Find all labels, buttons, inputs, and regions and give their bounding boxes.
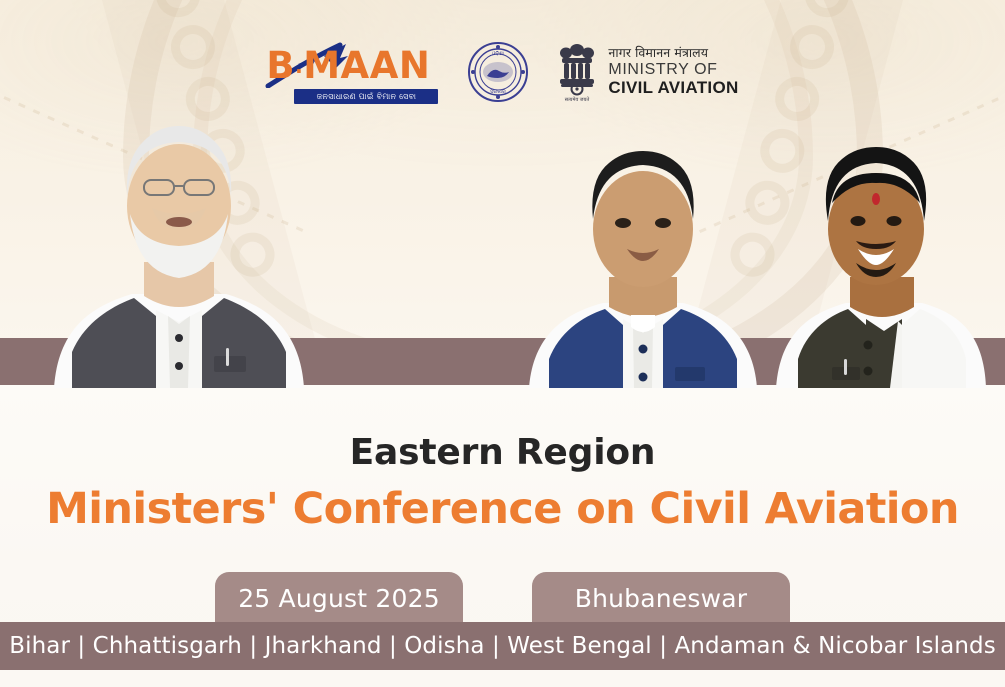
participating-states-bar: Bihar | Chhattisgarh | Jharkhand | Odish… [0, 622, 1005, 670]
date-badge: 25 August 2025 [215, 572, 463, 624]
svg-text:सत्यमेव जयते: सत्यमेव जयते [565, 96, 590, 103]
page-title: Ministers' Conference on Civil Aviation [0, 484, 1005, 534]
national-emblem-ashoka-icon: सत्यमेव जयते [555, 41, 599, 103]
bmaan-wordmark: B·MAAN [266, 46, 441, 86]
svg-text:ସରକାର: ସରକାର [491, 89, 507, 95]
conference-poster: B·MAAN ଜନସାଧାରଣ ପାଇଁ ବିମାନ ସେବା ଓଡ଼ିଶା ସ… [0, 0, 1005, 687]
city-badge: Bhubaneswar [532, 572, 790, 624]
badge-row: 25 August 2025 Bhubaneswar [0, 572, 1005, 624]
svg-text:ଓଡ଼ିଶା: ଓଡ଼ିଶା [492, 50, 504, 57]
ministry-line-1: MINISTRY OF [608, 61, 738, 78]
ministry-of-civil-aviation-logo: सत्यमेव जयते नागर विमानन मंत्रालय MINIST… [555, 41, 738, 103]
portrait-1 [48, 110, 310, 388]
logo-row: B·MAAN ଜନସାଧାରଣ ପାଇଁ ବିମାନ ସେବା ଓଡ଼ିଶା ସ… [0, 36, 1005, 108]
portrait-row [0, 110, 1005, 388]
portrait-2 [519, 145, 767, 388]
bmaan-tagline: ଜନସାଧାରଣ ପାଇଁ ବିମାନ ସେବା [294, 89, 438, 104]
government-of-odisha-seal-icon: ଓଡ଼ିଶା ସରକାର [467, 41, 529, 103]
region-heading: Eastern Region [0, 432, 1005, 473]
portrait-3 [772, 145, 990, 388]
bmaan-logo: B·MAAN ଜନସାଧାରଣ ପାଇଁ ବିମାନ ସେବା [266, 40, 441, 104]
ministry-hindi-name: नागर विमानन मंत्रालय [608, 46, 738, 60]
footer-strip [0, 670, 1005, 687]
ministry-line-2: CIVIL AVIATION [608, 79, 738, 97]
